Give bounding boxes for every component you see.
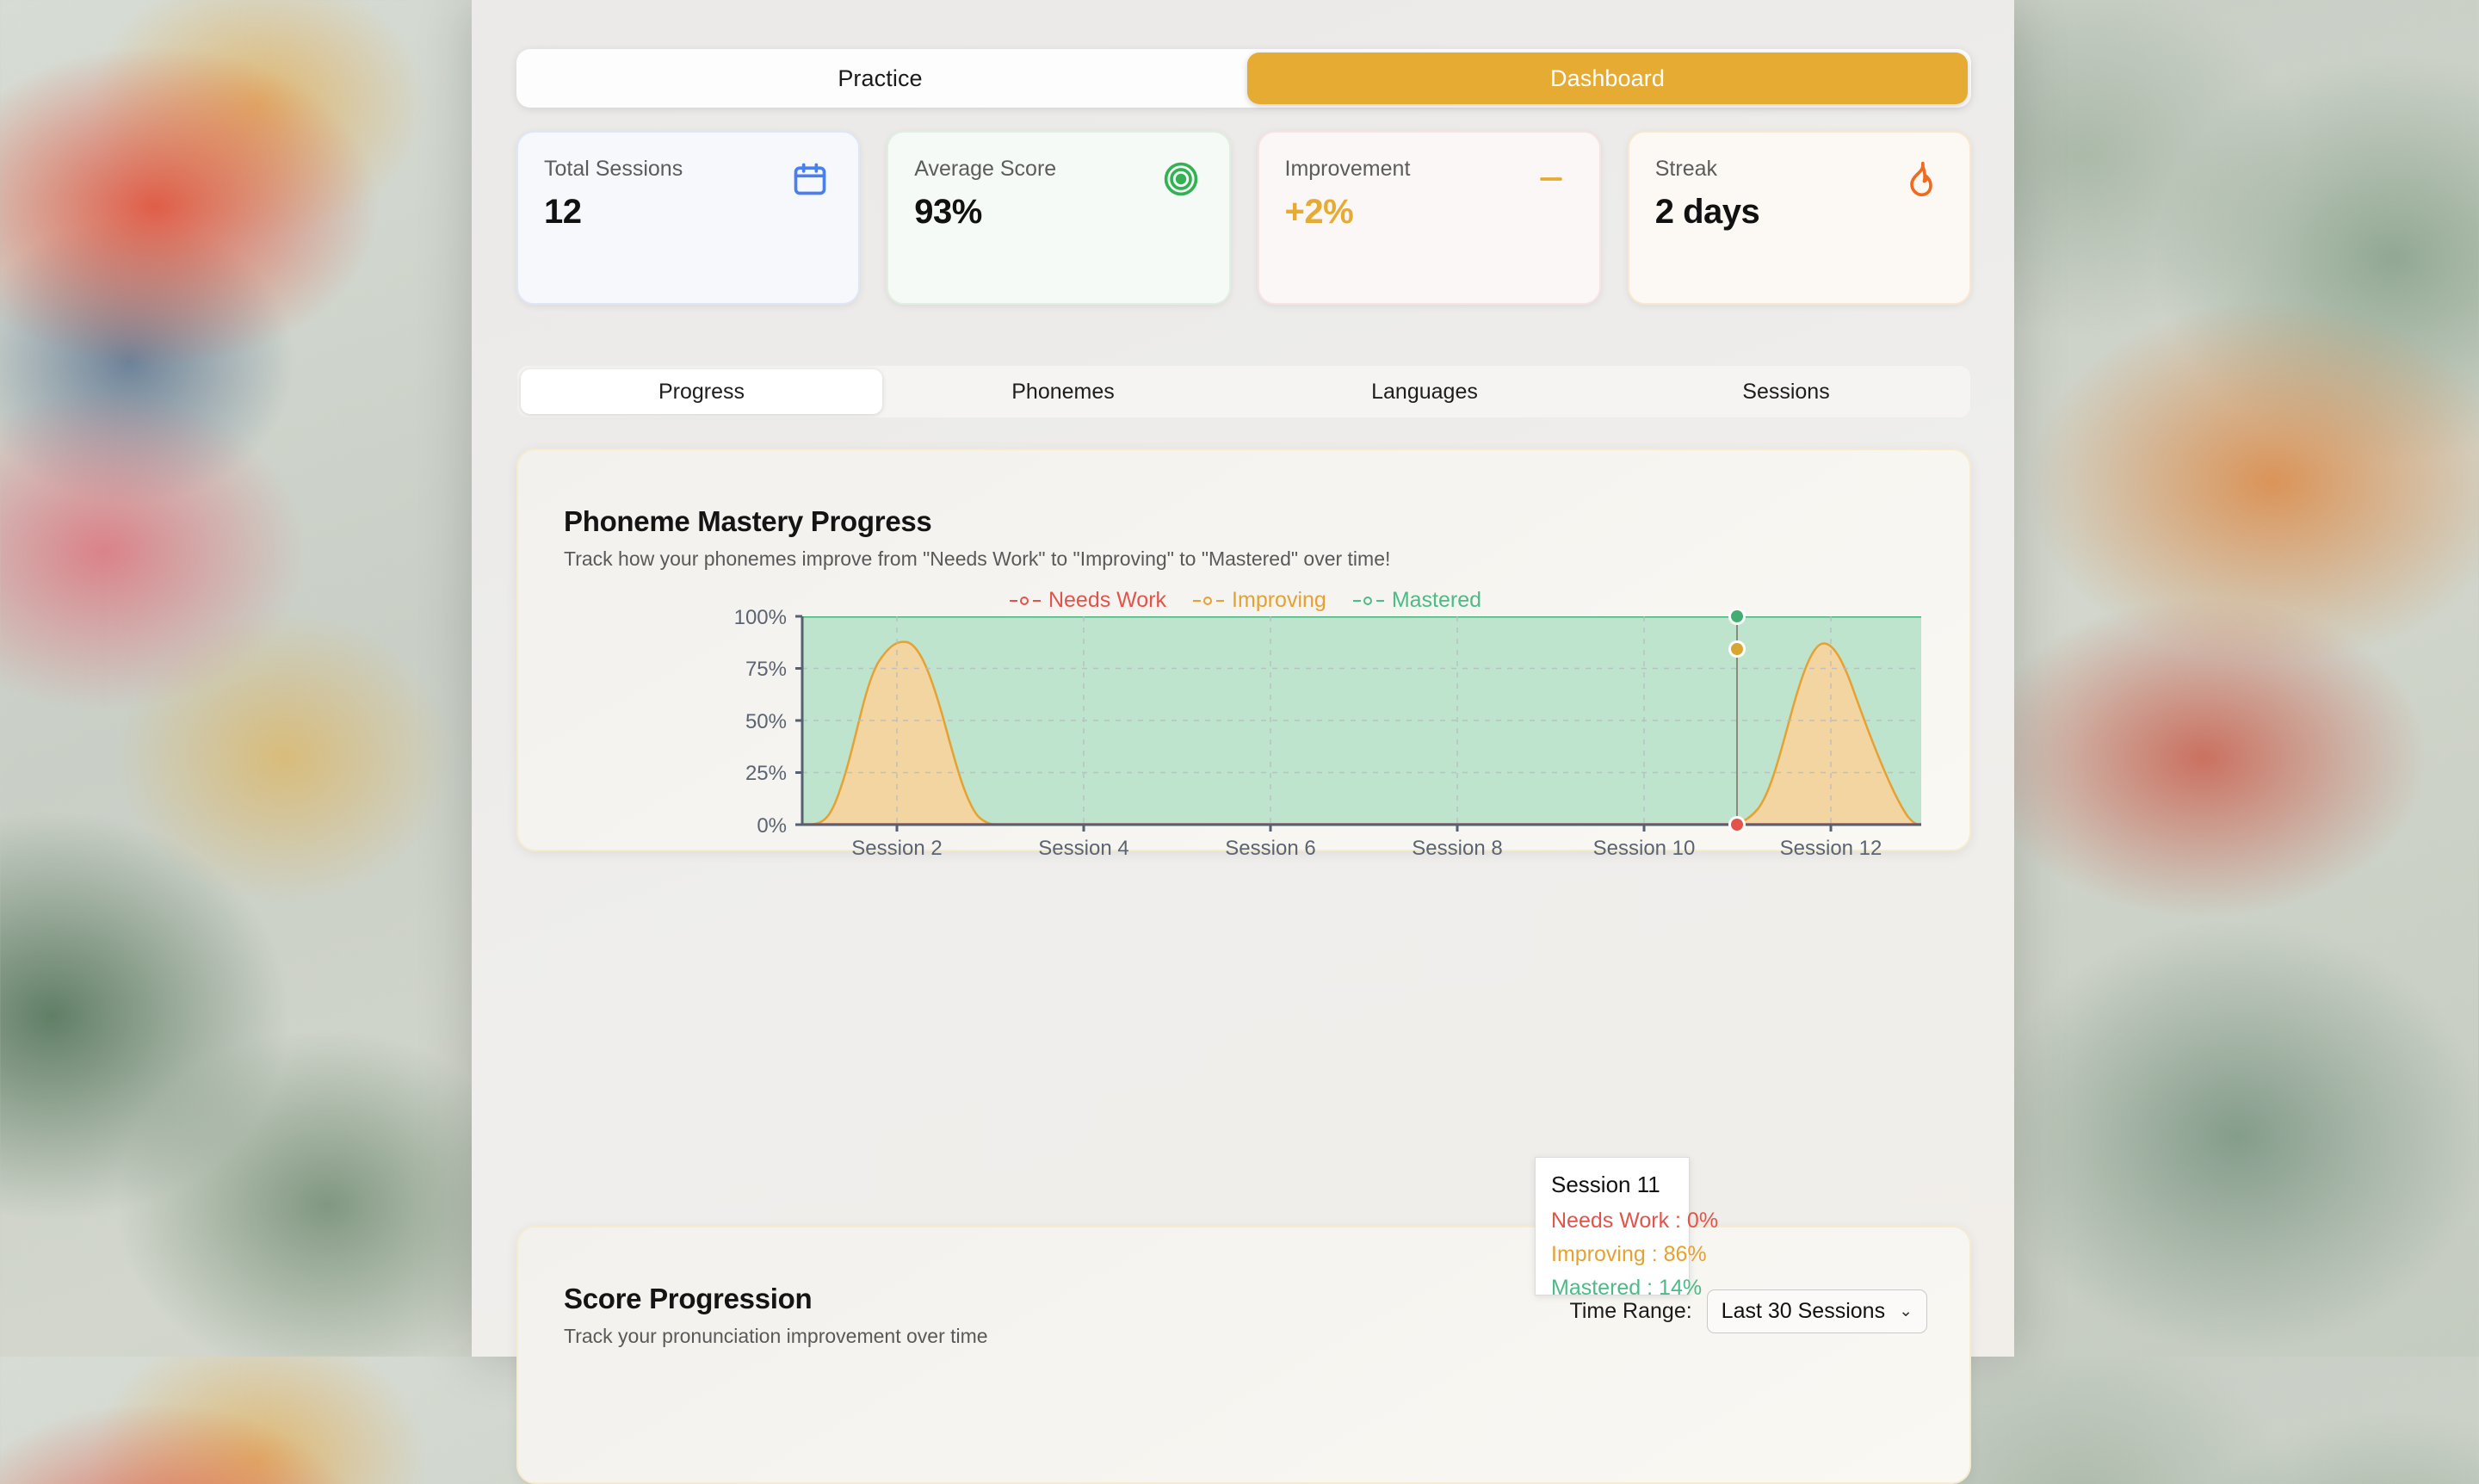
legend-marker-icon bbox=[1193, 596, 1224, 606]
stat-label: Improvement bbox=[1285, 157, 1411, 182]
legend-marker-icon bbox=[1353, 596, 1384, 606]
time-range-select[interactable]: Last 30 Sessions ⌄ bbox=[1707, 1289, 1927, 1333]
xtick-label: Session 8 bbox=[1412, 837, 1502, 855]
app-window: Practice Dashboard Total Sessions 12 Ave… bbox=[472, 0, 2014, 1357]
xtick-label: Session 10 bbox=[1593, 837, 1696, 855]
minus-icon bbox=[1529, 157, 1573, 201]
ytick-label: 25% bbox=[745, 762, 787, 785]
chart-svg[interactable]: 100% 75% 50% 25% 0% bbox=[518, 609, 1973, 855]
stat-value: 93% bbox=[914, 193, 1056, 232]
score-progression-title: Score Progression bbox=[564, 1283, 988, 1315]
xtick-label: Session 12 bbox=[1780, 837, 1882, 855]
tooltip-row-improving: Improving : 86% bbox=[1551, 1242, 1673, 1267]
legend-item-improving[interactable]: Improving bbox=[1193, 588, 1326, 613]
section-tabs: Progress Phonemes Languages Sessions bbox=[516, 365, 1971, 418]
page-title: Phoneme Mastery Progress bbox=[564, 505, 1390, 538]
stat-value: +2% bbox=[1285, 193, 1411, 232]
tab-phonemes[interactable]: Phonemes bbox=[882, 369, 1244, 414]
nav-dashboard[interactable]: Dashboard bbox=[1247, 53, 1968, 104]
calendar-icon bbox=[788, 157, 832, 201]
stat-card-improvement: Improvement +2% bbox=[1258, 131, 1601, 305]
ytick-label: 0% bbox=[757, 814, 787, 838]
card-header: Phoneme Mastery Progress Track how your … bbox=[564, 505, 1390, 571]
tab-sessions[interactable]: Sessions bbox=[1605, 369, 1967, 414]
tooltip-row-mastered: Mastered : 14% bbox=[1551, 1276, 1673, 1301]
target-icon bbox=[1159, 157, 1203, 201]
stat-card-row: Total Sessions 12 Average Score 93% bbox=[516, 131, 1971, 305]
stat-card-streak: Streak 2 days bbox=[1628, 131, 1971, 305]
legend-item-mastered[interactable]: Mastered bbox=[1353, 588, 1481, 613]
tab-progress[interactable]: Progress bbox=[521, 369, 882, 414]
tooltip-row-needs-work: Needs Work : 0% bbox=[1551, 1209, 1673, 1234]
tooltip-title: Session 11 bbox=[1551, 1172, 1673, 1198]
chevron-down-icon: ⌄ bbox=[1899, 1302, 1913, 1321]
phoneme-mastery-chart[interactable]: 100% 75% 50% 25% 0% bbox=[518, 609, 1973, 855]
top-nav: Practice Dashboard bbox=[516, 49, 1971, 108]
tab-languages[interactable]: Languages bbox=[1244, 369, 1605, 414]
phoneme-mastery-card: Phoneme Mastery Progress Track how your … bbox=[516, 448, 1971, 851]
stat-value: 12 bbox=[544, 193, 683, 232]
score-progression-subtitle: Track your pronunciation improvement ove… bbox=[564, 1325, 988, 1348]
score-progression-card: Score Progression Track your pronunciati… bbox=[516, 1226, 1971, 1484]
legend-label: Mastered bbox=[1392, 588, 1481, 613]
stat-card-average-score: Average Score 93% bbox=[887, 131, 1230, 305]
time-range-label: Time Range: bbox=[1569, 1299, 1691, 1324]
stat-label: Total Sessions bbox=[544, 157, 683, 182]
chart-legend: Needs Work Improving M bbox=[518, 588, 1973, 613]
legend-item-needs-work[interactable]: Needs Work bbox=[1010, 588, 1166, 613]
legend-label: Needs Work bbox=[1048, 588, 1166, 613]
xtick-label: Session 6 bbox=[1225, 837, 1315, 855]
xtick-label: Session 4 bbox=[1038, 837, 1128, 855]
time-range-value: Last 30 Sessions bbox=[1722, 1299, 1885, 1324]
flame-icon bbox=[1899, 157, 1944, 201]
active-point-needs-work bbox=[1728, 816, 1746, 833]
xtick-label: Session 2 bbox=[851, 837, 942, 855]
stat-label: Average Score bbox=[914, 157, 1056, 182]
legend-label: Improving bbox=[1232, 588, 1326, 613]
legend-marker-icon bbox=[1010, 596, 1041, 606]
nav-practice[interactable]: Practice bbox=[520, 53, 1240, 104]
chart-tooltip: Session 11 Needs Work : 0% Improving : 8… bbox=[1535, 1157, 1690, 1295]
stat-value: 2 days bbox=[1655, 193, 1760, 232]
card-header: Score Progression Track your pronunciati… bbox=[564, 1283, 1927, 1348]
ytick-label: 75% bbox=[745, 658, 787, 681]
ytick-label: 50% bbox=[745, 710, 787, 733]
active-point-improving bbox=[1728, 640, 1746, 658]
stat-label: Streak bbox=[1655, 157, 1760, 182]
stat-card-total-sessions: Total Sessions 12 bbox=[516, 131, 860, 305]
card-subtitle: Track how your phonemes improve from "Ne… bbox=[564, 547, 1390, 571]
